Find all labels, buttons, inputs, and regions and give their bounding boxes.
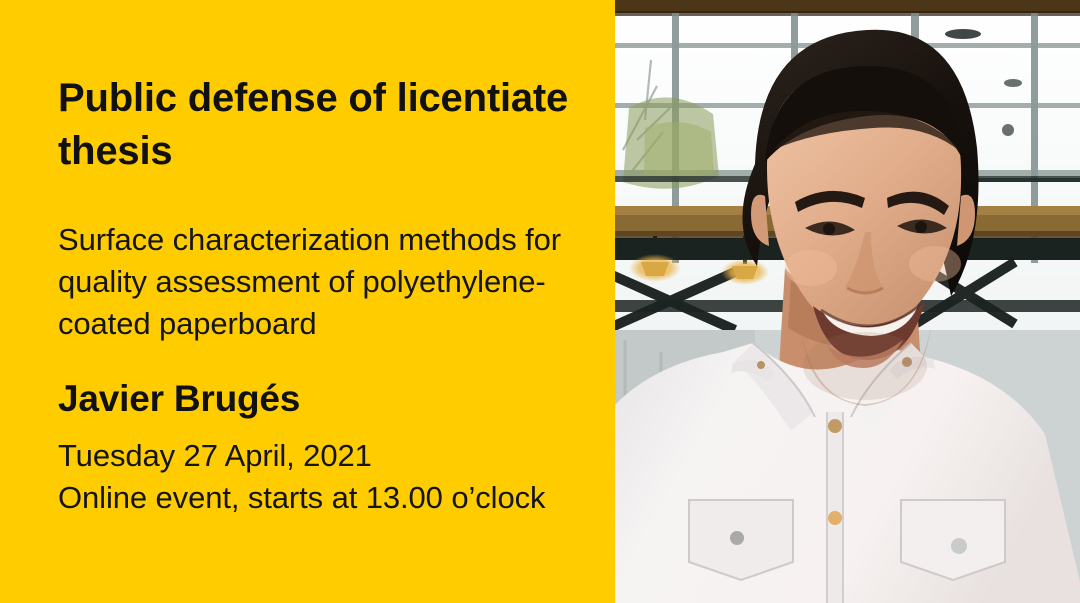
pocket-button bbox=[951, 538, 967, 554]
shirt-button bbox=[828, 419, 842, 433]
shirt-button bbox=[828, 511, 842, 525]
page-title: Public defense of licentiate thesis bbox=[58, 72, 588, 178]
poster-root: Public defense of licentiate thesis Surf… bbox=[0, 0, 1080, 603]
pocket-button bbox=[730, 531, 744, 545]
photo-illustration bbox=[615, 0, 1080, 603]
speaker-photo bbox=[615, 0, 1080, 603]
thesis-subtitle: Surface characterization methods for qua… bbox=[58, 219, 598, 345]
event-details: Tuesday 27 April, 2021 Online event, sta… bbox=[58, 435, 603, 519]
event-date: Tuesday 27 April, 2021 bbox=[58, 435, 603, 477]
speaker-name: Javier Brugés bbox=[58, 377, 300, 421]
text-panel: Public defense of licentiate thesis Surf… bbox=[0, 0, 615, 603]
event-location-time: Online event, starts at 13.00 o’clock bbox=[58, 477, 603, 519]
